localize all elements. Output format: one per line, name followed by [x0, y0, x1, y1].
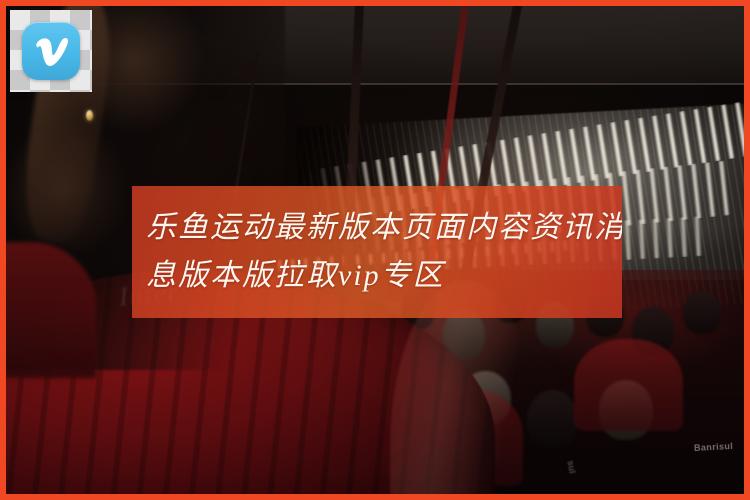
vimeo-v-glyph — [31, 34, 71, 68]
screenshot-canvas: Banrisul sul Inter 乐鱼运动最新版本页面内容资讯消 息版本版拉… — [0, 0, 750, 500]
banner-title-line-2: 息版本版拉取vip专区 — [146, 252, 608, 300]
title-banner: 乐鱼运动最新版本页面内容资讯消 息版本版拉取vip专区 — [132, 186, 622, 318]
vimeo-logo-icon[interactable] — [22, 22, 80, 80]
logo-transparency-checker — [10, 10, 92, 92]
banner-title-line-1: 乐鱼运动最新版本页面内容资讯消 — [146, 204, 608, 252]
